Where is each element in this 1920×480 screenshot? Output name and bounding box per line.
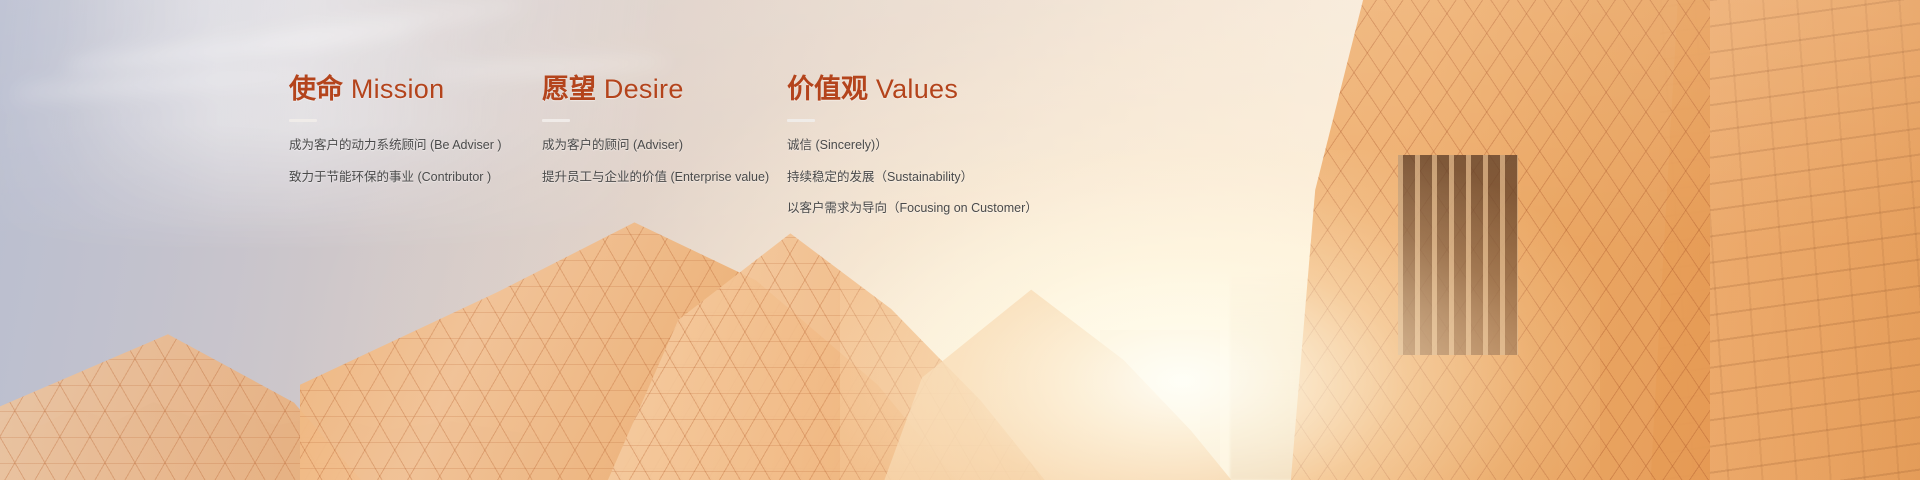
values-line-3: 以客户需求为导向（Focusing on Customer） — [787, 201, 1038, 217]
mission-vision-values-banner: 使命 Mission 成为客户的动力系统顾问 (Be Adviser ) 致力于… — [0, 0, 1920, 480]
mission-heading-en-text: Mission — [351, 74, 445, 104]
mission-heading-cn: 使命 — [289, 74, 343, 104]
values-heading-cn: 价值观 — [787, 74, 868, 104]
banner-content: 使命 Mission 成为客户的动力系统顾问 (Be Adviser ) 致力于… — [0, 0, 1920, 480]
desire-heading-cn: 愿望 — [542, 74, 596, 104]
values-heading-space — [868, 74, 876, 104]
desire-heading-en-text: Desire — [604, 74, 684, 104]
mission-line-1: 成为客户的动力系统顾问 (Be Adviser ) — [289, 138, 502, 154]
desire-line-1: 成为客户的顾问 (Adviser) — [542, 138, 769, 154]
mission-heading: 使命 Mission — [289, 74, 502, 104]
column-values: 价值观 Values 诚信 (Sincerely)） 持续稳定的发展（Susta… — [787, 74, 1038, 217]
mission-heading-en — [343, 74, 351, 104]
desire-heading: 愿望 Desire — [542, 74, 769, 104]
column-desire: 愿望 Desire 成为客户的顾问 (Adviser) 提升员工与企业的价值 (… — [542, 74, 769, 185]
column-mission: 使命 Mission 成为客户的动力系统顾问 (Be Adviser ) 致力于… — [289, 74, 502, 185]
values-line-1: 诚信 (Sincerely)） — [787, 138, 1038, 154]
values-heading-en-text: Values — [876, 74, 958, 104]
values-line-2: 持续稳定的发展（Sustainability） — [787, 170, 1038, 186]
desire-heading-space — [596, 74, 604, 104]
values-heading: 价值观 Values — [787, 74, 1038, 104]
desire-divider — [542, 119, 570, 122]
mission-divider — [289, 119, 317, 122]
desire-line-2: 提升员工与企业的价值 (Enterprise value) — [542, 170, 769, 186]
mission-line-2: 致力于节能环保的事业 (Contributor ) — [289, 170, 502, 186]
values-divider — [787, 119, 815, 122]
